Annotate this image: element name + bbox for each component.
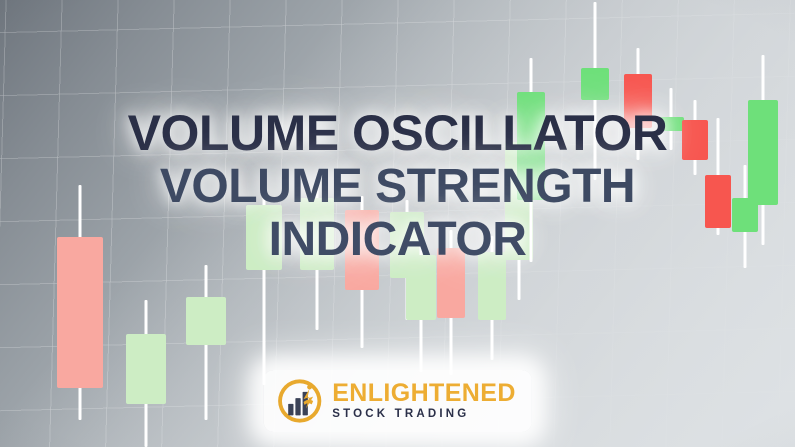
enlightened-stock-trading-logo-icon	[275, 377, 323, 425]
headline-line-3: INDICATOR	[0, 216, 795, 264]
headline-block: VOLUME OSCILLATOR VOLUME STRENGTH INDICA…	[0, 108, 795, 264]
candle-body	[581, 68, 609, 100]
brand-name-primary: ENLIGHTENED	[332, 381, 516, 406]
brand-wordmark: ENLIGHTENED STOCK TRADING	[332, 381, 516, 421]
brand-logo: ENLIGHTENED STOCK TRADING	[263, 370, 532, 432]
candle-body	[126, 334, 166, 404]
brand-name-secondary: STOCK TRADING	[332, 409, 516, 421]
headline-line-1: VOLUME OSCILLATOR	[0, 108, 795, 158]
candle-body	[186, 297, 226, 345]
banner-canvas: VOLUME OSCILLATOR VOLUME STRENGTH INDICA…	[0, 0, 795, 447]
headline-line-2: VOLUME STRENGTH	[0, 163, 795, 211]
